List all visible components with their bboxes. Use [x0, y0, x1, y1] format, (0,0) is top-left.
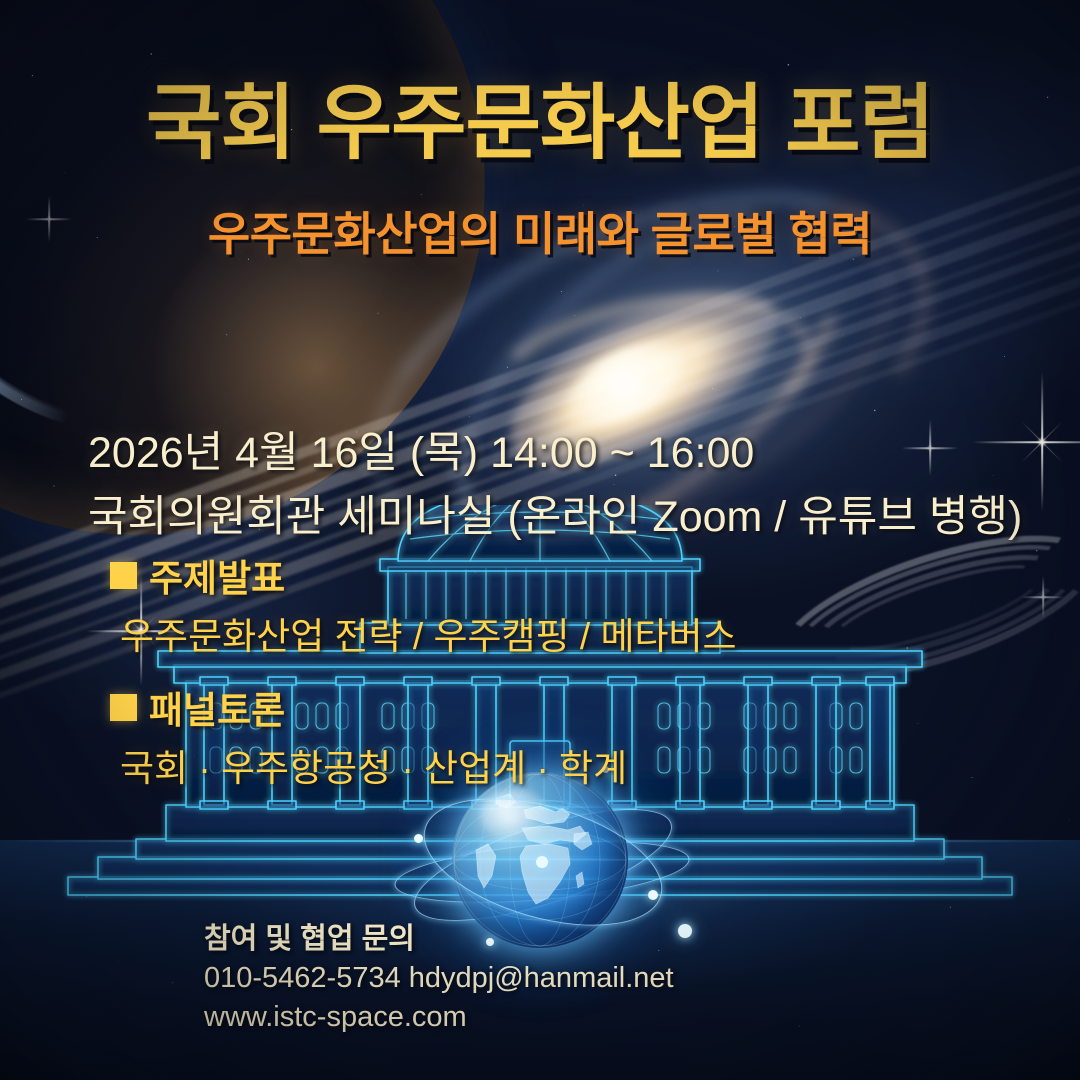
orbit-node: [536, 856, 548, 868]
program-section: 주제발표 우주문화산업 전략 / 우주캠핑 / 메타버스 패널토론 국회 · 우…: [110, 548, 830, 792]
event-venue: 국회의원회관 세미나실 (온라인 Zoom / 유튜브 병행): [88, 482, 1022, 544]
contact-block: 참여 및 협업 문의 010-5462-5734 hdydpj@hanmail.…: [204, 920, 674, 1037]
program-body: 우주문화산업 전략 / 우주캠핑 / 메타버스: [120, 606, 830, 660]
page-title: 국회 우주문화산업 포럼: [0, 56, 1080, 175]
program-heading-row: 주제발표: [110, 548, 830, 602]
program-item: 주제발표 우주문화산업 전략 / 우주캠핑 / 메타버스: [110, 548, 830, 660]
event-poster: 국회 우주문화산업 포럼 우주문화산업의 미래와 글로벌 협력 2026년 4월…: [0, 0, 1080, 1080]
page-subtitle: 우주문화산업의 미래와 글로벌 협력: [0, 198, 1080, 264]
orbit-node: [678, 924, 692, 938]
program-heading: 패널토론: [149, 680, 285, 734]
square-bullet-icon: [110, 694, 137, 721]
event-datetime: 2026년 4월 16일 (목) 14:00 ~ 16:00: [88, 418, 754, 480]
square-bullet-icon: [110, 562, 137, 589]
orbit-node: [414, 834, 423, 843]
program-heading: 주제발표: [149, 548, 285, 602]
program-heading-row: 패널토론: [110, 680, 830, 734]
contact-website[interactable]: www.istc-space.com: [204, 998, 674, 1037]
program-item: 패널토론 국회 · 우주항공청 · 산업계 · 학계: [110, 680, 830, 792]
contact-phone-email[interactable]: 010-5462-5734 hdydpj@hanmail.net: [204, 959, 674, 998]
contact-label: 참여 및 협업 문의: [204, 920, 674, 959]
program-body: 국회 · 우주항공청 · 산업계 · 학계: [120, 738, 830, 792]
orbit-node: [648, 890, 658, 900]
